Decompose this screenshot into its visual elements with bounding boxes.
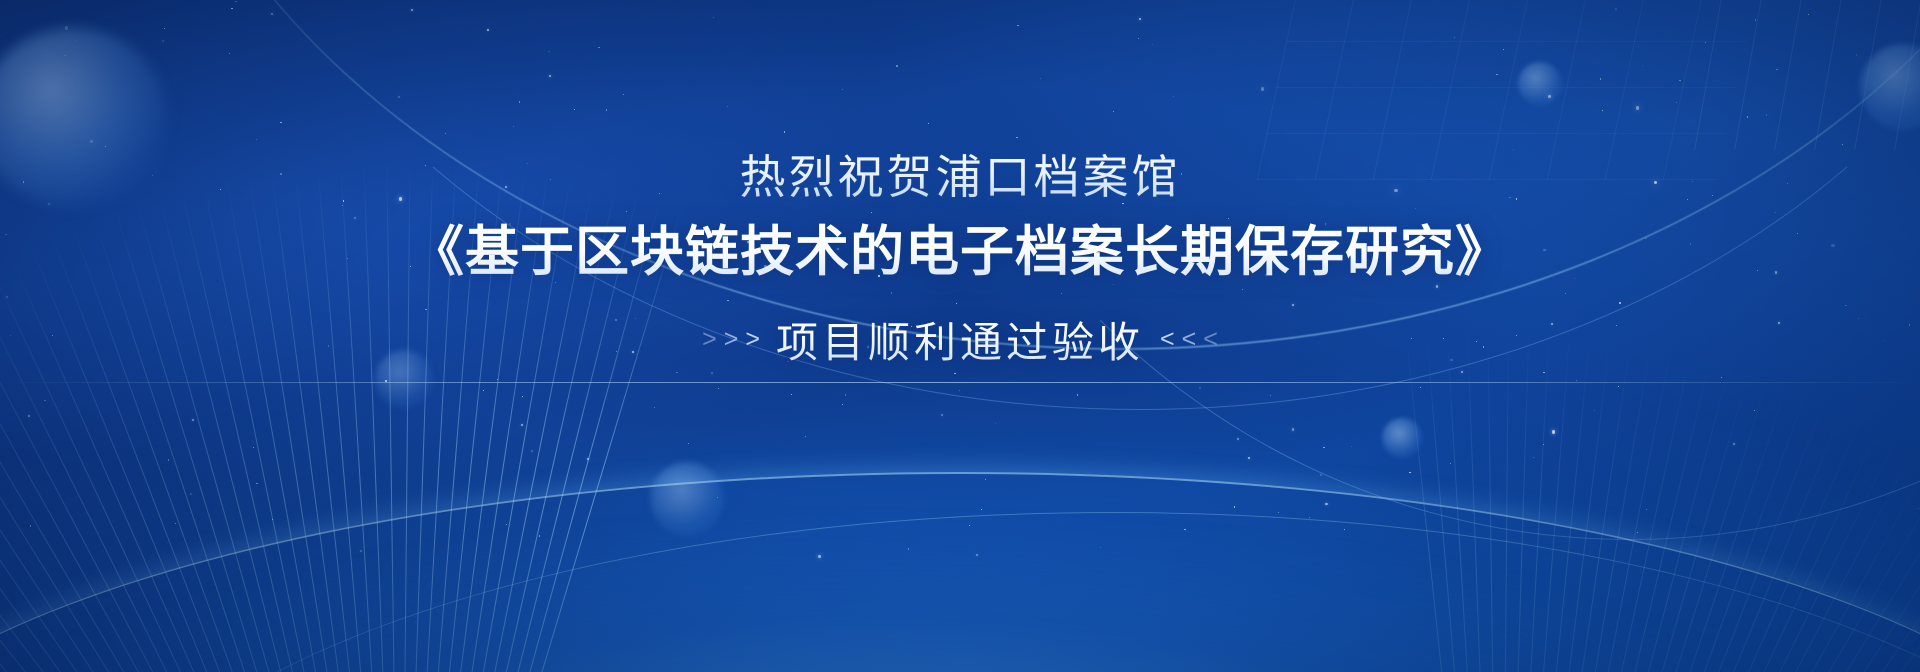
chevron-right-icon-2: > — [724, 327, 739, 352]
chevron-right-icon-3: > — [745, 327, 760, 352]
chevron-left-icon-2: < — [1182, 327, 1197, 352]
chevron-left-icon-1: < — [1160, 327, 1175, 352]
chevron-right-icon-1: > — [702, 327, 717, 352]
congratulation-line: 热烈祝贺浦口档案馆 — [740, 150, 1181, 205]
headline-block: 热烈祝贺浦口档案馆 《基于区块链技术的电子档案长期保存研究》 > > > 项目顺… — [0, 150, 1920, 370]
chevron-left-icon-3: < — [1203, 327, 1218, 352]
chevron-left-icon-group: < < < — [1160, 327, 1218, 352]
project-title: 《基于区块链技术的电子档案长期保存研究》 — [410, 219, 1510, 287]
acceptance-line: > > > 项目顺利通过验收 < < < — [702, 309, 1218, 370]
horizontal-hairline — [0, 382, 1920, 383]
acceptance-text: 项目顺利通过验收 — [776, 309, 1144, 370]
glow-orb-small-top — [1518, 62, 1562, 106]
chevron-right-icon-group: > > > — [702, 327, 760, 352]
celebration-banner: 热烈祝贺浦口档案馆 《基于区块链技术的电子档案长期保存研究》 > > > 项目顺… — [0, 0, 1920, 672]
